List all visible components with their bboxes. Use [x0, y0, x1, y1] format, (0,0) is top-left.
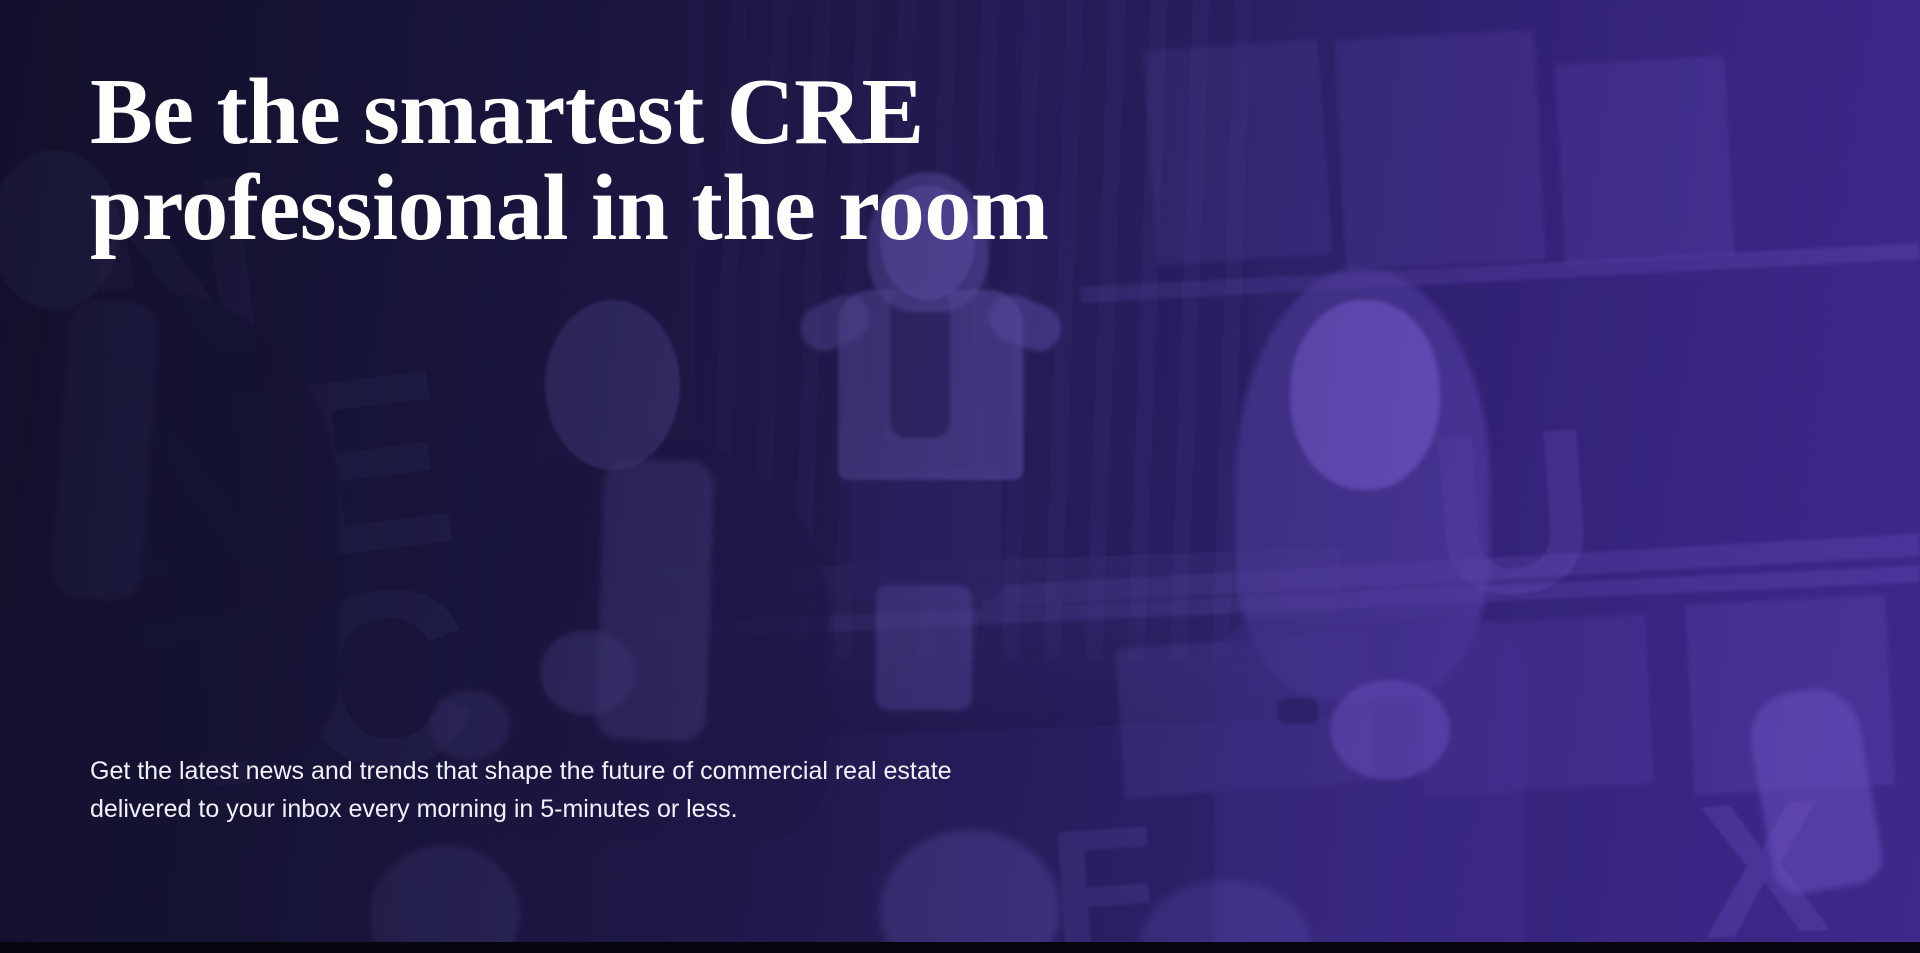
hero-subheadline: Get the latest news and trends that shap…: [90, 752, 1030, 828]
hero-headline: Be the smartest CRE professional in the …: [90, 64, 1130, 256]
hero-banner: N NE TC U X F: [0, 0, 1920, 953]
hero-copy: Be the smartest CRE professional in the …: [90, 0, 1150, 953]
